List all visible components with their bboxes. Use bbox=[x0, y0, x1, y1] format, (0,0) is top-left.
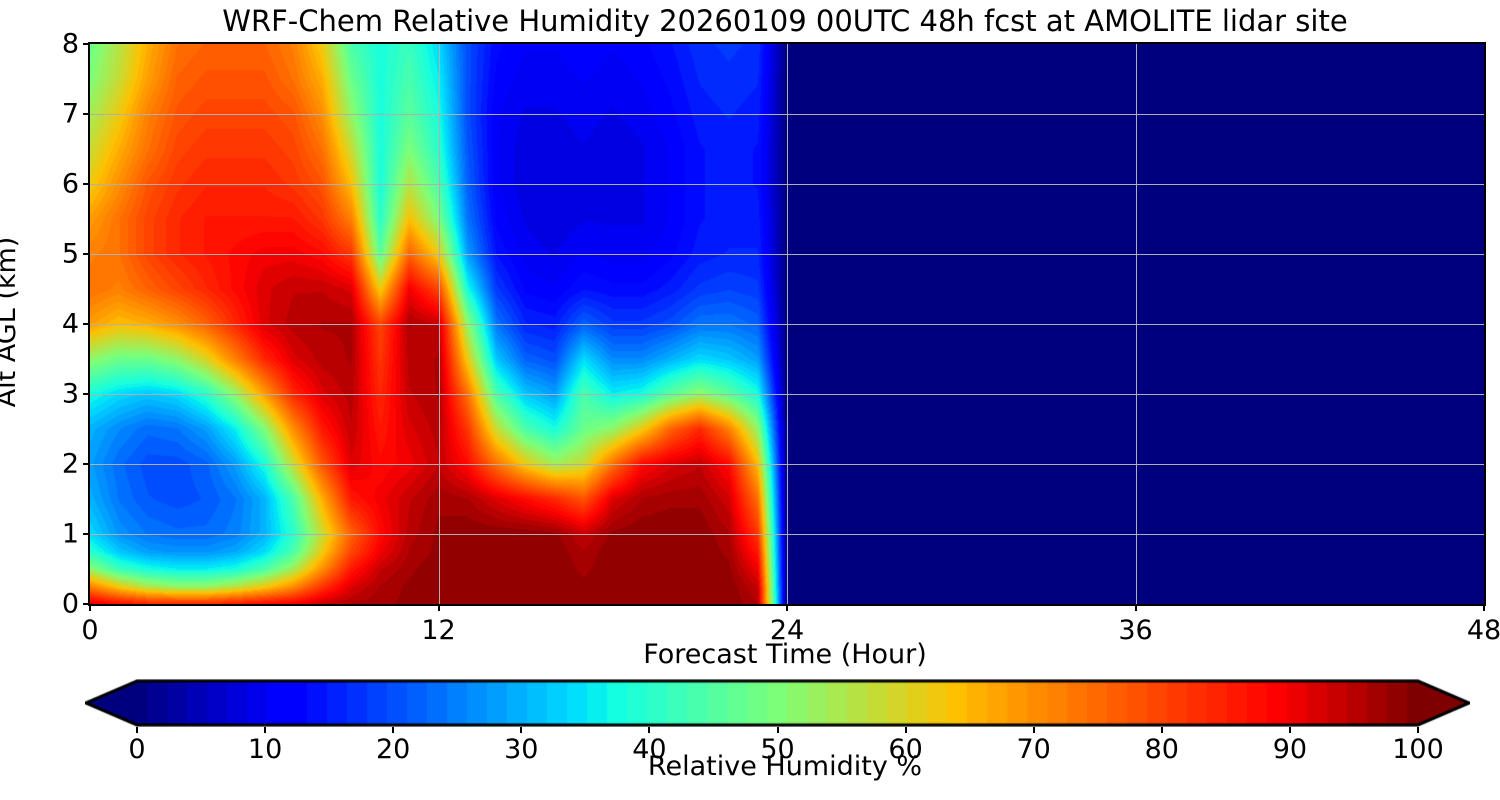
figure-canvas: WRF-Chem Relative Humidity 20260109 00UT… bbox=[0, 0, 1500, 800]
colorbar-tick-mark bbox=[136, 727, 138, 733]
colorbar-gradient bbox=[85, 679, 1470, 727]
x-tick-mark bbox=[1483, 604, 1485, 611]
colorbar-tick-mark bbox=[648, 727, 650, 733]
contour-plot-axes[interactable]: 012345678 012243648 bbox=[88, 42, 1486, 606]
x-tick-mark bbox=[786, 604, 788, 611]
colorbar-tick-mark bbox=[1417, 727, 1419, 733]
y-tick-label: 7 bbox=[62, 99, 79, 130]
y-tick-label: 8 bbox=[62, 29, 79, 60]
x-axis-label: Forecast Time (Hour) bbox=[88, 638, 1482, 672]
y-tick-mark bbox=[83, 43, 90, 45]
colorbar-tick-mark bbox=[520, 727, 522, 733]
colorbar-tick-mark bbox=[1289, 727, 1291, 733]
y-tick-label: 1 bbox=[62, 519, 79, 550]
colorbar-tick-mark bbox=[1033, 727, 1035, 733]
colorbar-tick-mark bbox=[392, 727, 394, 733]
x-tick-mark bbox=[89, 604, 91, 611]
y-tick-mark bbox=[83, 463, 90, 465]
y-tick-mark bbox=[83, 323, 90, 325]
y-tick-label: 4 bbox=[62, 309, 79, 340]
y-tick-mark bbox=[83, 393, 90, 395]
relative-humidity-contour-field bbox=[90, 44, 1484, 604]
y-tick-label: 5 bbox=[62, 239, 79, 270]
y-axis-label: Alt AGL (km) bbox=[0, 42, 24, 602]
y-tick-label: 3 bbox=[62, 379, 79, 410]
x-tick-mark bbox=[438, 604, 440, 611]
colorbar-tick-mark bbox=[264, 727, 266, 733]
colorbar-tick-mark bbox=[777, 727, 779, 733]
y-tick-mark bbox=[83, 183, 90, 185]
colorbar-label: Relative Humidity % bbox=[88, 750, 1482, 784]
y-tick-label: 0 bbox=[62, 589, 79, 620]
y-tick-mark bbox=[83, 113, 90, 115]
colorbar[interactable]: 0102030405060708090100 bbox=[85, 679, 1470, 727]
x-tick-mark bbox=[1135, 604, 1137, 611]
colorbar-tick-mark bbox=[905, 727, 907, 733]
y-tick-mark bbox=[83, 253, 90, 255]
y-tick-label: 6 bbox=[62, 169, 79, 200]
colorbar-tick-mark bbox=[1161, 727, 1163, 733]
y-tick-mark bbox=[83, 533, 90, 535]
y-tick-label: 2 bbox=[62, 449, 79, 480]
chart-title: WRF-Chem Relative Humidity 20260109 00UT… bbox=[88, 4, 1482, 38]
